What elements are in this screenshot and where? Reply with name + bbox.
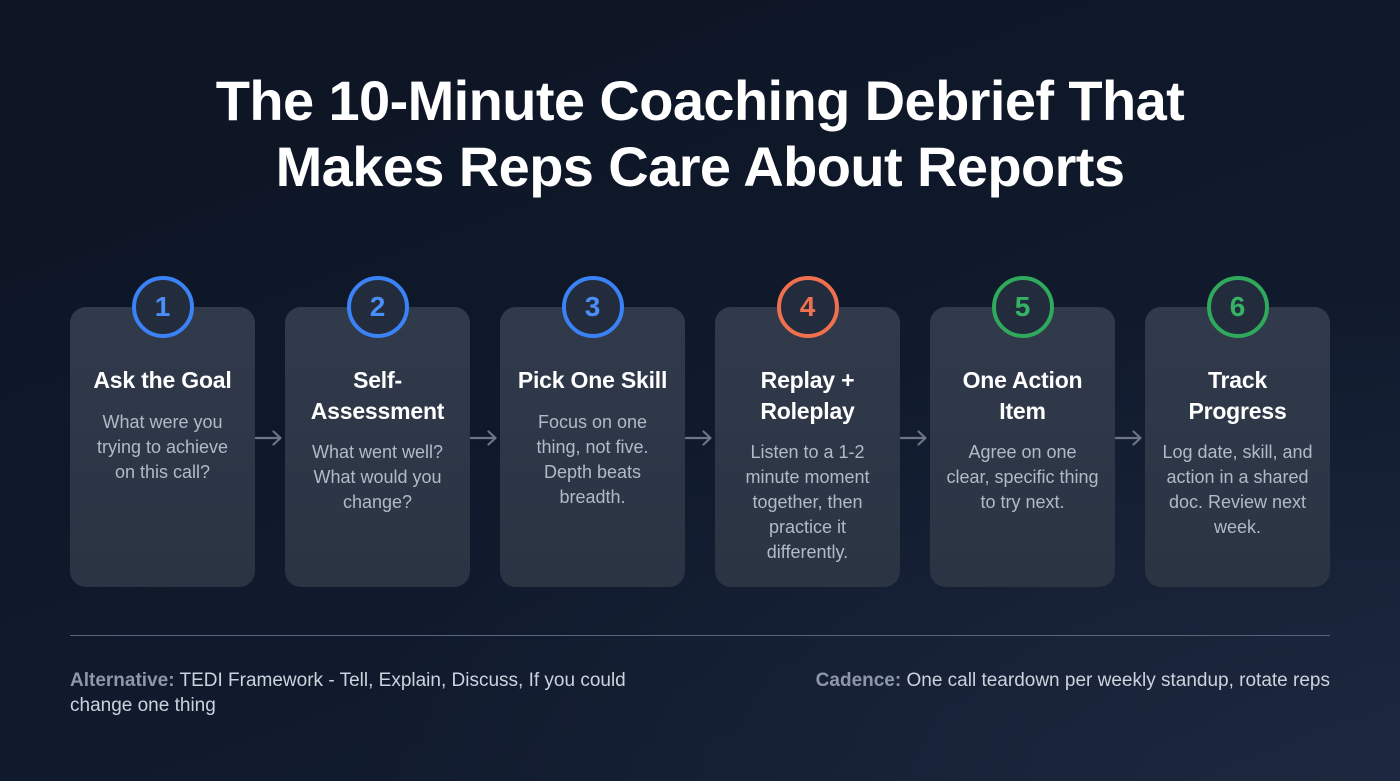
connector-2 <box>470 307 500 447</box>
footer-alternative-label: Alternative: <box>70 670 175 691</box>
step-number-label-2: 2 <box>370 293 386 321</box>
arrow-right-icon <box>1115 429 1145 447</box>
step-card-3[interactable]: 3 Pick One Skill Focus on one thing, not… <box>500 307 685 587</box>
step-number-label-5: 5 <box>1015 293 1031 321</box>
step-description-2: What went well? What would you change? <box>301 440 454 515</box>
step-number-badge-6: 6 <box>1207 276 1269 338</box>
step-title-1: Ask the Goal <box>86 365 239 396</box>
step-card-6[interactable]: 6 Track Progress Log date, skill, and ac… <box>1145 307 1330 587</box>
step-card-2[interactable]: 2 Self-Assessment What went well? What w… <box>285 307 470 587</box>
footer-alternative: Alternative: TEDI Framework - Tell, Expl… <box>70 668 690 719</box>
step-description-4: Listen to a 1-2 minute moment together, … <box>731 440 884 565</box>
step-number-label-3: 3 <box>585 293 601 321</box>
arrow-right-icon <box>470 429 500 447</box>
step-number-badge-2: 2 <box>347 276 409 338</box>
footer-divider <box>70 635 1330 636</box>
step-card-5[interactable]: 5 One Action Item Agree on one clear, sp… <box>930 307 1115 587</box>
connector-1 <box>255 307 285 447</box>
connector-3 <box>685 307 715 447</box>
title-block: The 10-Minute Coaching Debrief That Make… <box>70 68 1330 199</box>
step-number-badge-4: 4 <box>777 276 839 338</box>
step-title-5: One Action Item <box>946 365 1099 426</box>
arrow-right-icon <box>900 429 930 447</box>
connector-5 <box>1115 307 1145 447</box>
step-number-badge-1: 1 <box>132 276 194 338</box>
step-number-label-6: 6 <box>1230 293 1246 321</box>
footer-cadence-label: Cadence: <box>816 670 902 691</box>
step-number-badge-3: 3 <box>562 276 624 338</box>
step-description-3: Focus on one thing, not five. Depth beat… <box>516 410 669 510</box>
footer-cadence: Cadence: One call teardown per weekly st… <box>816 668 1330 693</box>
step-number-label-4: 4 <box>800 293 816 321</box>
connector-4 <box>900 307 930 447</box>
slide-canvas: The 10-Minute Coaching Debrief That Make… <box>0 0 1400 781</box>
arrow-right-icon <box>685 429 715 447</box>
step-description-6: Log date, skill, and action in a shared … <box>1161 440 1314 540</box>
step-title-3: Pick One Skill <box>516 365 669 396</box>
footer-cadence-text: One call teardown per weekly standup, ro… <box>901 670 1330 691</box>
footer: Alternative: TEDI Framework - Tell, Expl… <box>70 668 1330 719</box>
step-description-1: What were you trying to achieve on this … <box>86 410 239 485</box>
step-number-badge-5: 5 <box>992 276 1054 338</box>
step-card-4[interactable]: 4 Replay + Roleplay Listen to a 1-2 minu… <box>715 307 900 587</box>
step-title-6: Track Progress <box>1161 365 1314 426</box>
step-card-1[interactable]: 1 Ask the Goal What were you trying to a… <box>70 307 255 587</box>
step-title-2: Self-Assessment <box>301 365 454 426</box>
step-number-label-1: 1 <box>155 293 171 321</box>
step-title-4: Replay + Roleplay <box>731 365 884 426</box>
arrow-right-icon <box>255 429 285 447</box>
step-description-5: Agree on one clear, specific thing to tr… <box>946 440 1099 515</box>
steps-row: 1 Ask the Goal What were you trying to a… <box>70 307 1330 587</box>
page-title: The 10-Minute Coaching Debrief That Make… <box>70 68 1330 199</box>
